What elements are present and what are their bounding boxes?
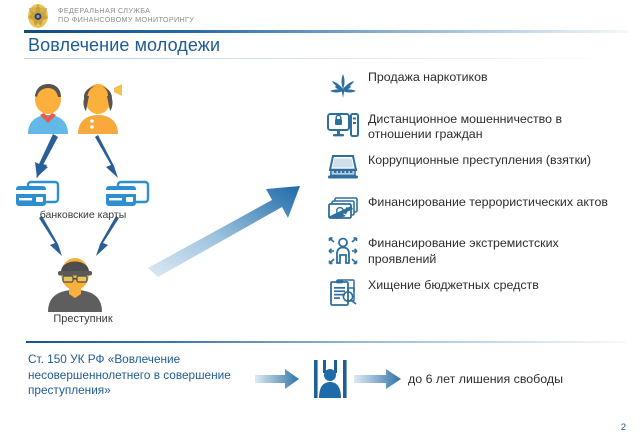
list-item: Дистанционное мошенничество в отношении … (322, 110, 640, 144)
criminal-with-sunglasses-icon (44, 252, 106, 312)
money-weapon-icon (322, 193, 364, 223)
list-item: Финансирование террористических актов (322, 193, 640, 227)
bank-cards-label: банковские карты (8, 209, 158, 221)
slide-canvas: ФЕДЕРАЛЬНАЯ СЛУЖБА ПО ФИНАНСОВОМУ МОНИТО… (0, 0, 640, 443)
page-number: 2 (621, 422, 626, 433)
title-rule-top (24, 30, 628, 33)
law-reference-text: Ст. 150 УК РФ «Вовлечение несовершенноле… (28, 352, 258, 399)
bank-card-icon (14, 178, 60, 210)
list-item-label: Финансирование террористических актов (364, 193, 608, 211)
slide-header: ФЕДЕРАЛЬНАЯ СЛУЖБА ПО ФИНАНСОВОМУ МОНИТО… (0, 0, 640, 32)
arrow-people-to-right-card (95, 135, 118, 178)
list-item-label: Хищение бюджетных средств (364, 276, 539, 294)
bottom-divider-rule (26, 341, 626, 343)
org-name: ФЕДЕРАЛЬНАЯ СЛУЖБА ПО ФИНАНСОВОМУ МОНИТО… (58, 6, 194, 25)
page-title: Вовлечение молодежи (28, 35, 220, 56)
criminal-label: Преступник (8, 313, 158, 325)
arrow-left-card-to-criminal (39, 216, 62, 256)
cannabis-leaf-icon (322, 68, 364, 100)
list-item: Продажа наркотиков (322, 68, 640, 102)
list-item-label: Коррупционные преступления (взятки) (364, 151, 591, 169)
laptop-icon (322, 151, 364, 181)
crime-list: Продажа наркотиков Дистанционное мошенни… (322, 68, 640, 317)
diagonal-gradient-arrow-icon (148, 186, 300, 277)
org-line-1: ФЕДЕРАЛЬНАЯ СЛУЖБА (58, 6, 194, 15)
list-item-label: Продажа наркотиков (364, 68, 488, 86)
right-gradient-arrow-icon (255, 369, 299, 389)
computer-lock-icon (322, 110, 364, 140)
arrow-right-card-to-criminal (96, 216, 119, 256)
russian-double-headed-eagle-emblem-icon (24, 3, 52, 29)
list-item: Хищение бюджетных средств (322, 276, 640, 310)
list-item-label: Финансирование экстремистских проявлений (364, 234, 626, 267)
bank-card-icon (104, 178, 150, 210)
arrow-people-to-left-card (35, 134, 58, 178)
list-item: Финансирование экстремистских проявлений (322, 234, 640, 268)
person-spreading-icon (322, 234, 364, 266)
org-line-2: ПО ФИНАНСОВОМУ МОНИТОРИНГУ (58, 15, 194, 24)
person-behind-bars-icon (314, 360, 347, 398)
documents-stamp-icon (322, 276, 364, 308)
list-item: Коррупционные преступления (взятки) (322, 151, 640, 185)
list-item-label: Дистанционное мошенничество в отношении … (364, 110, 626, 143)
sentence-text: до 6 лет лишения свободы (408, 372, 563, 386)
bottom-flow-graphic (255, 358, 420, 400)
right-gradient-arrow-icon (354, 369, 401, 389)
